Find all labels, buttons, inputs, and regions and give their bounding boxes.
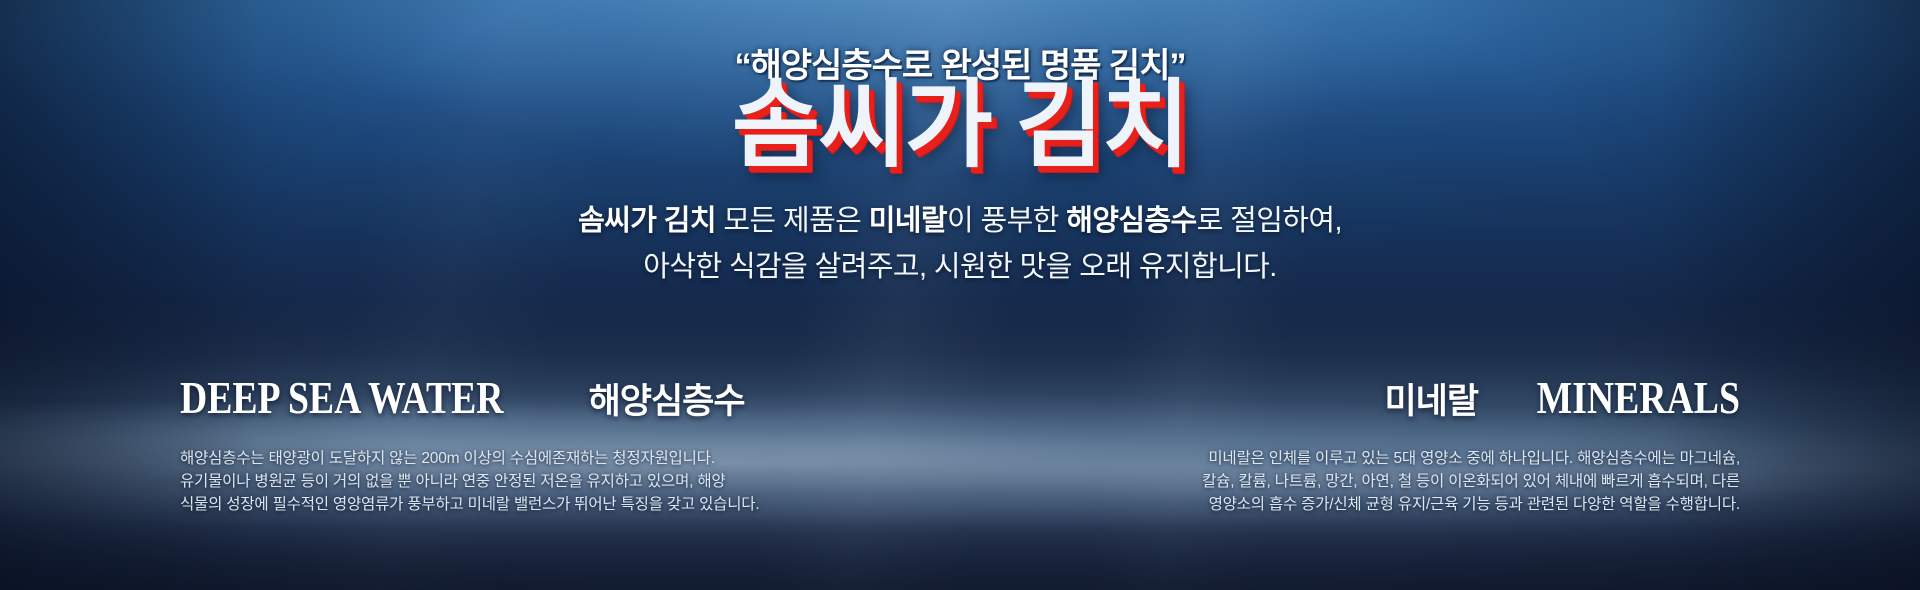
banner-content: “해양심층수로 완성된 명품 김치” 솜씨가 김치 솜씨가 김치 모든 제품은 … [0, 0, 1920, 590]
deep-sea-water-body-line: 유기물이나 병원균 등이 거의 없을 뿐 아니라 연중 안정된 저온을 유지하고… [180, 470, 740, 493]
minerals-body-line: 칼슘, 칼륨, 나트륨, 망간, 아연, 철 등이 이온화되어 있어 체내에 빠… [1180, 470, 1740, 493]
lead-emphasis-minerals: 미네랄 [869, 205, 947, 237]
banner-title: 솜씨가 김치 [0, 78, 1920, 174]
minerals-column: 미네랄MINERALS 미네랄은 인체를 이루고 있는 5대 영양소 중에 하나… [1180, 375, 1740, 516]
minerals-body-line: 미네랄은 인체를 이루고 있는 5대 영양소 중에 하나입니다. 해양심층수에는… [1180, 447, 1740, 470]
lead-text-c: 이 풍부한 [947, 205, 1066, 237]
minerals-body: 미네랄은 인체를 이루고 있는 5대 영양소 중에 하나입니다. 해양심층수에는… [1180, 447, 1740, 516]
minerals-body-line: 영양소의 흡수 증가/신체 균형 유지/근육 기능 등과 관련된 다양한 역할을… [1180, 493, 1740, 516]
minerals-heading-en: MINERALS [1537, 375, 1740, 421]
lead-text-d: 로 절임하여, [1197, 205, 1342, 237]
lead-emphasis-deepseawater: 해양심층수 [1066, 205, 1196, 237]
minerals-heading: 미네랄MINERALS [1180, 375, 1740, 421]
banner-lead-paragraph: 솜씨가 김치 모든 제품은 미네랄이 풍부한 해양심층수로 절임하여, 아삭한 … [0, 198, 1920, 290]
deep-sea-water-body-line: 해양심층수는 태양광이 도달하지 않는 200m 이상의 수심에존재하는 청정자… [180, 447, 740, 470]
promo-banner: “해양심층수로 완성된 명품 김치” 솜씨가 김치 솜씨가 김치 모든 제품은 … [0, 0, 1920, 590]
lead-text-a: 모든 제품은 [716, 205, 869, 237]
lead-line-1: 솜씨가 김치 모든 제품은 미네랄이 풍부한 해양심층수로 절임하여, [0, 198, 1920, 244]
minerals-heading-ko: 미네랄 [1384, 384, 1478, 419]
deep-sea-water-heading-en: DEEP SEA WATER [180, 375, 504, 421]
deep-sea-water-heading: DEEP SEA WATER해양심층수 [180, 375, 740, 421]
deep-sea-water-column: DEEP SEA WATER해양심층수 해양심층수는 태양광이 도달하지 않는 … [180, 375, 740, 516]
deep-sea-water-body-line: 식물의 성장에 필수적인 영양염류가 풍부하고 미네랄 밸런스가 뛰어난 특징을… [180, 493, 740, 516]
deep-sea-water-body: 해양심층수는 태양광이 도달하지 않는 200m 이상의 수심에존재하는 청정자… [180, 447, 740, 516]
deep-sea-water-heading-ko: 해양심층수 [589, 384, 745, 419]
lead-line-2: 아삭한 식감을 살려주고, 시원한 맛을 오래 유지합니다. [0, 244, 1920, 290]
lead-brand-name: 솜씨가 김치 [578, 205, 716, 237]
